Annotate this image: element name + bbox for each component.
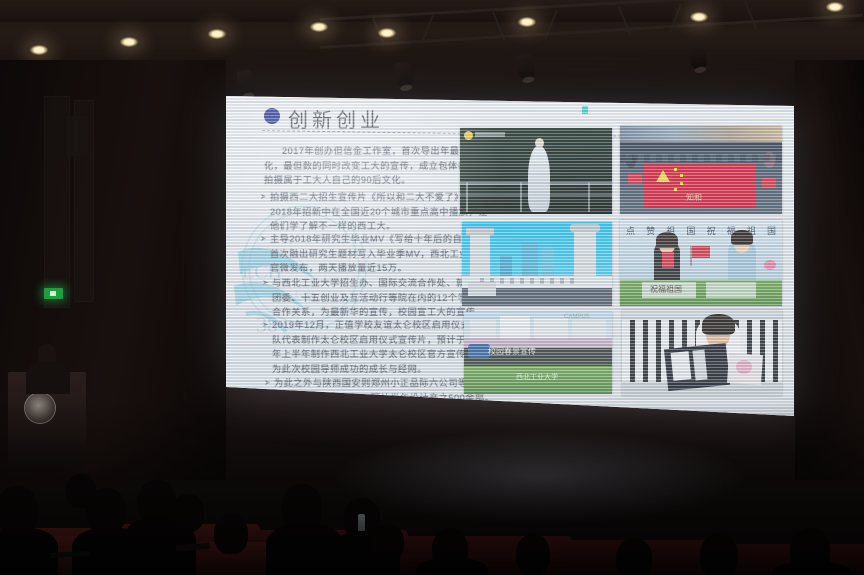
ceiling-spotlight-4 <box>310 22 328 32</box>
water-bottle <box>358 514 365 531</box>
ceiling-spotlight-3 <box>208 29 226 39</box>
floor-light-reflection <box>330 430 750 525</box>
photo-mid-left <box>462 222 612 306</box>
slide-paragraph: 拍摄西二大招生宣传片《所以和二大不爱了》，在 2018年招新中在全国近20个城市… <box>270 190 488 234</box>
wall-speaker <box>66 116 88 156</box>
accent-dot-icon <box>582 106 588 114</box>
slide-title: 创新创业 <box>288 104 384 133</box>
photo-mid-right: 点赞祖国祝福祖国 祝福祖国 <box>620 220 782 306</box>
ceiling-spotlight-8 <box>826 2 844 12</box>
audience-head <box>372 524 404 562</box>
led-wall-screen: ECH 38 大学 创新创业 2017年创办但信金工作室，首次导出年最新鲜的文 … <box>224 94 796 419</box>
ceiling-spotlight-1 <box>30 45 48 55</box>
slide-paragraph: 主导2018年研究生毕业MV《写给十年后的自己》， 首次融出研究生题材写入毕业季… <box>270 232 488 276</box>
slide-paragraph: 2019年12月，正值学校友谊太仑校区启用仪式，团 队代表制作太仑校区启用仪式宣… <box>272 318 490 376</box>
exit-sign <box>44 288 63 299</box>
audience-head <box>700 534 738 575</box>
presentation-slide: ECH 38 大学 创新创业 2017年创办但信金工作室，首次导出年最新鲜的文 … <box>224 94 796 419</box>
title-bullet-icon <box>264 108 280 124</box>
audience-head <box>172 494 204 532</box>
ceiling-spotlight-2 <box>120 37 138 47</box>
ceiling-spotlight-5 <box>378 28 396 38</box>
screenshot-root: ECH 38 大学 创新创业 2017年创办但信金工作室，首次导出年最新鲜的文 … <box>0 0 864 575</box>
audience-body <box>772 562 852 575</box>
photo-top-right: 知和 <box>620 126 782 214</box>
audience-head <box>616 538 652 575</box>
ceiling-spotlight-6 <box>518 17 536 27</box>
right-wall <box>795 60 864 480</box>
podium-emblem-icon <box>24 392 56 424</box>
bullet-arrow-icon: ➤ <box>264 378 271 387</box>
audience-body <box>416 558 488 575</box>
photo-bottom-right <box>622 310 782 396</box>
photo-top-left <box>460 128 612 214</box>
bullet-arrow-icon: ➤ <box>262 320 269 329</box>
audience-head <box>214 514 248 554</box>
audience-body <box>0 528 58 575</box>
bullet-arrow-icon: ➤ <box>260 234 267 243</box>
bullet-arrow-icon: ➤ <box>260 192 267 201</box>
audience-head <box>516 534 550 575</box>
bullet-arrow-icon: ➤ <box>262 278 269 287</box>
speaker-body <box>26 362 70 394</box>
photo-bottom-left: 校园春景宣传 西北工业大学 CAMPUS <box>464 312 612 394</box>
ceiling-spotlight-7 <box>690 12 708 22</box>
